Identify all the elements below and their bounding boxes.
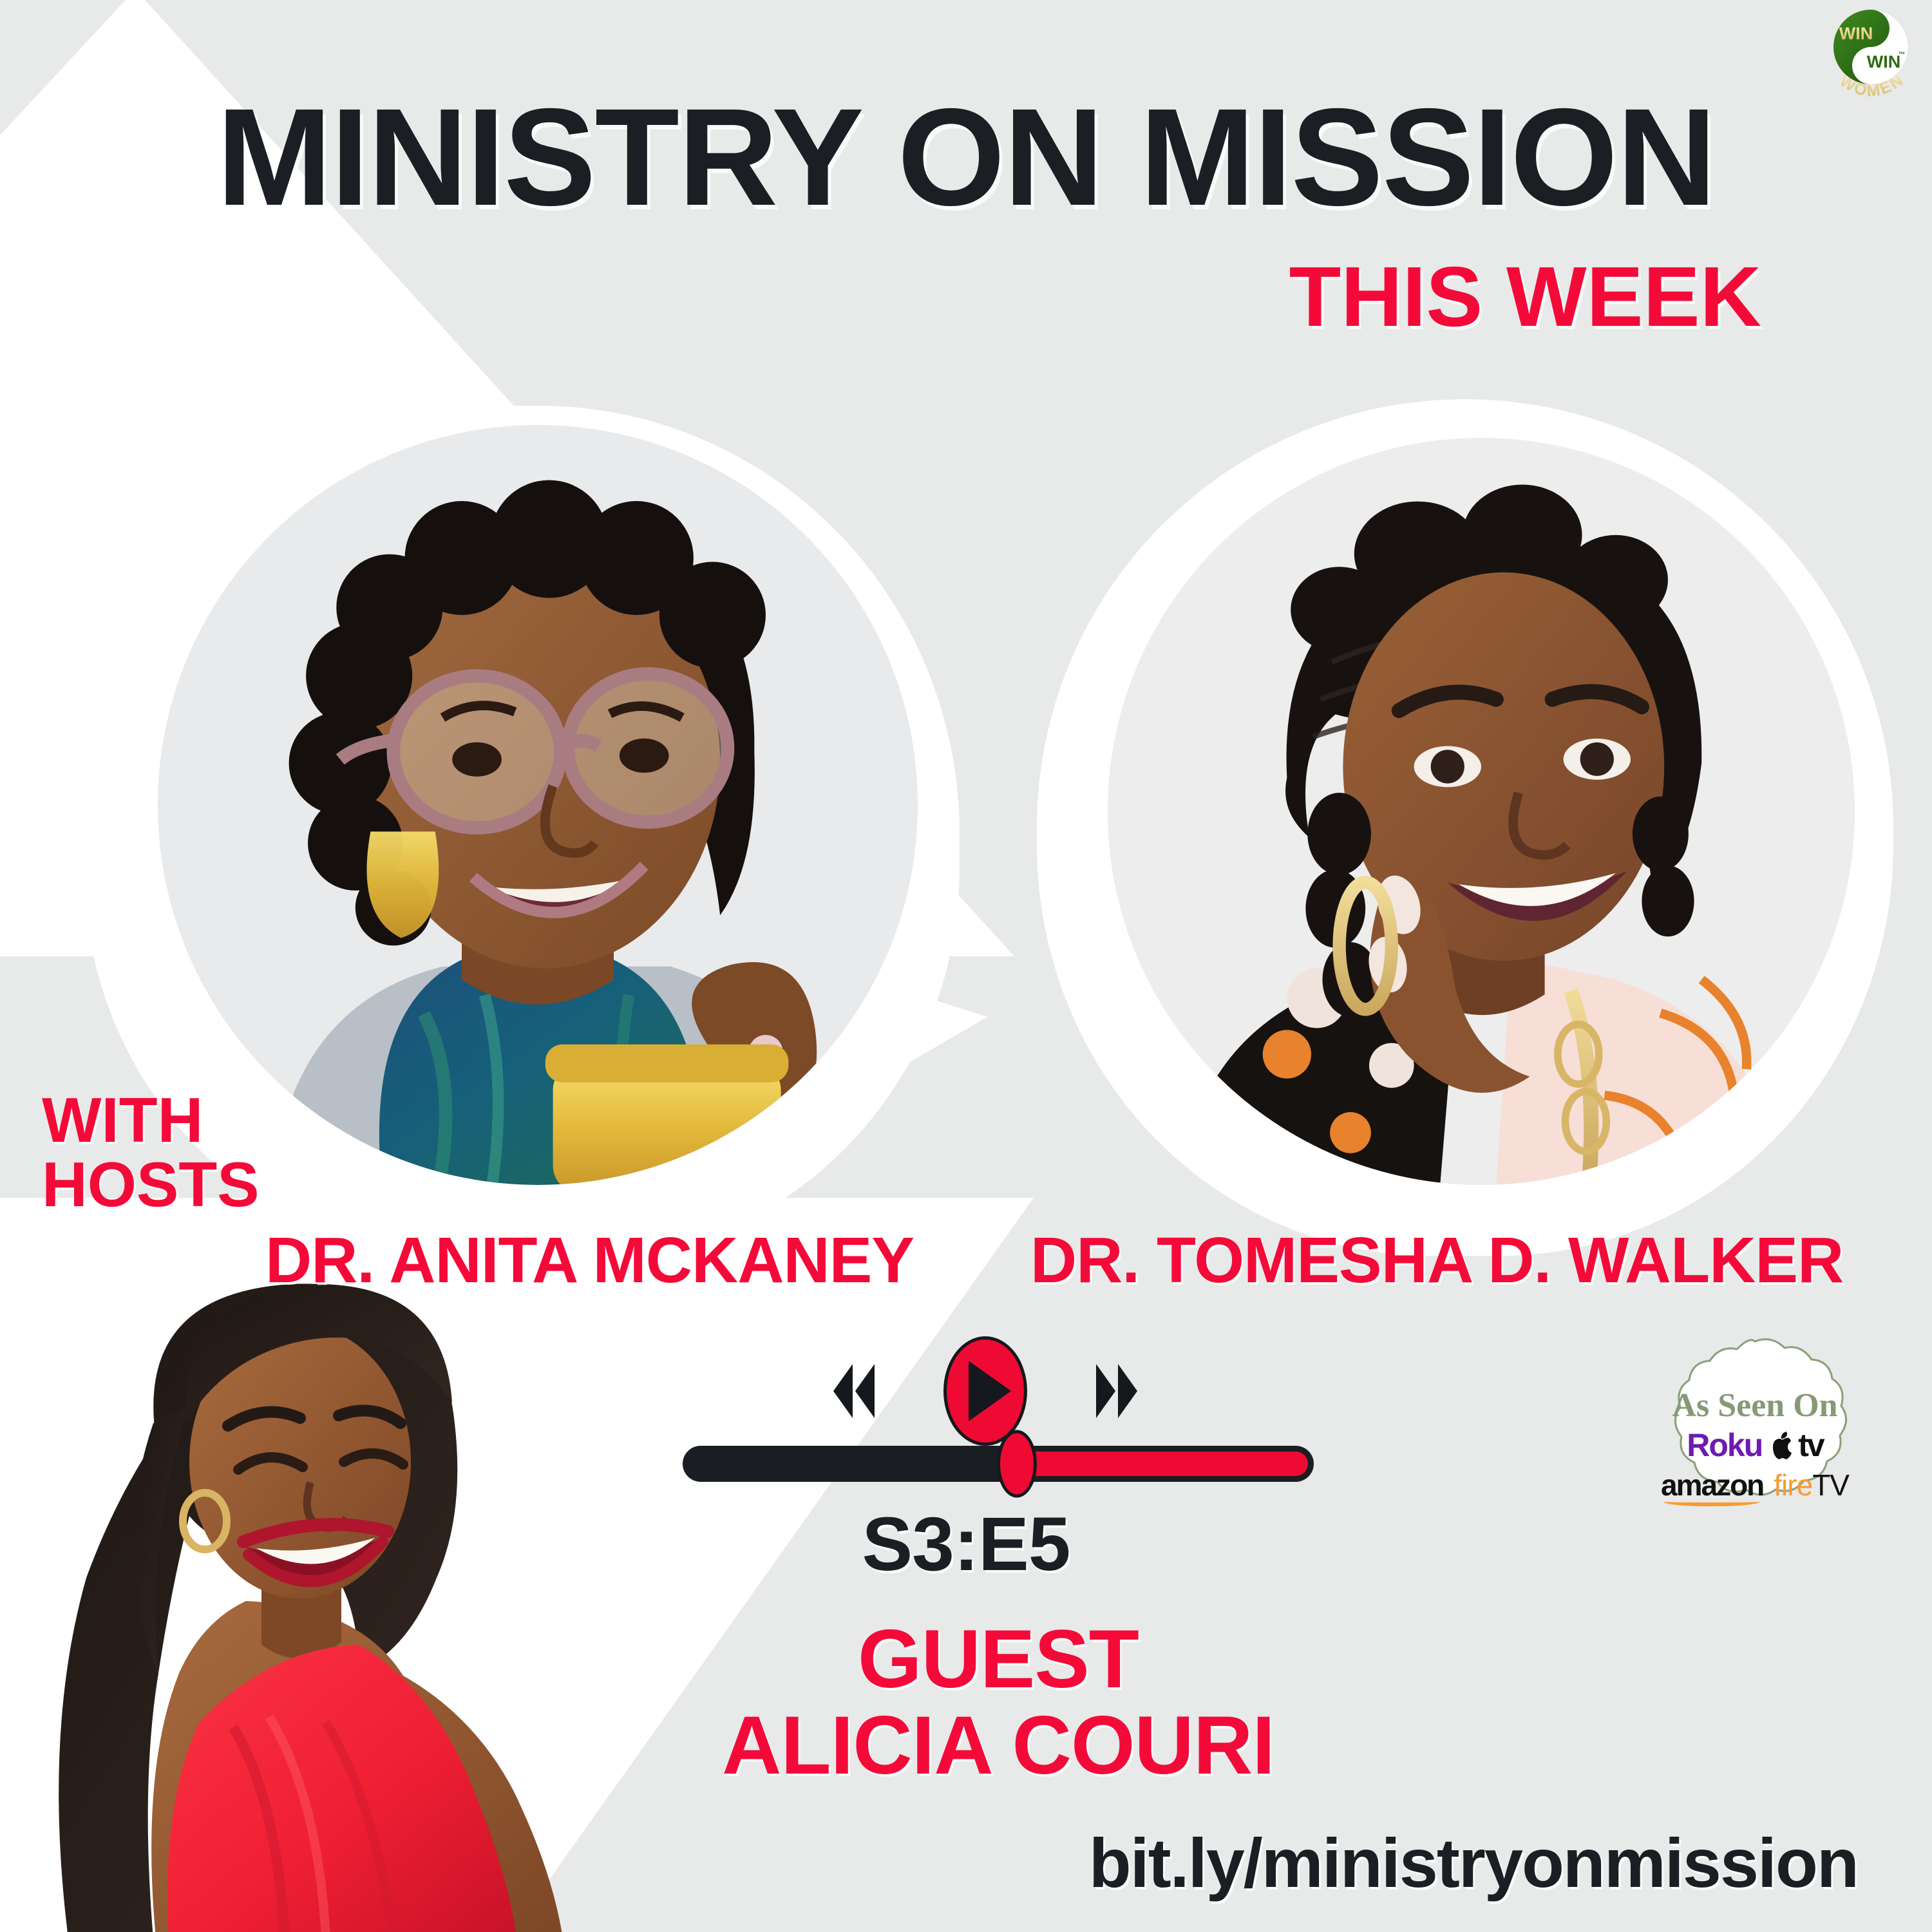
podcast-promo-poster: MINISTRY ON MISSION THIS WEEK WITH HOSTS… (0, 0, 1932, 1932)
play-button[interactable] (943, 1336, 1027, 1446)
with-hosts-line-2: HOSTS (42, 1153, 260, 1217)
rewind-icon[interactable] (831, 1360, 877, 1422)
host-1-name: DR. ANITA MCKANEY (265, 1224, 914, 1298)
apple-icon (1772, 1431, 1797, 1459)
win-win-women-logo-mark: WIN WIN ™ WOMEN (1819, 3, 1922, 113)
tv-label: TV (1812, 1468, 1849, 1502)
host-2-name: DR. TOMESHA D. WALKER (1030, 1224, 1843, 1298)
fast-forward-glyph (1094, 1360, 1140, 1422)
guest-photo (0, 1269, 676, 1932)
with-hosts-label: WITH HOSTS (42, 1088, 260, 1217)
as-seen-on-title: As Seen On (1672, 1389, 1837, 1423)
win-win-women-logo: WIN WIN ™ WOMEN (1819, 3, 1922, 113)
apple-tv-label: tv (1798, 1429, 1823, 1461)
host-1-avatar (158, 425, 918, 1185)
svg-text:WIN: WIN (1867, 52, 1900, 71)
progress-thumb[interactable] (997, 1430, 1037, 1498)
media-player-controls (831, 1333, 1140, 1449)
platform-row-1: Roku tv (1687, 1429, 1823, 1461)
host-1-portrait-illustration (158, 425, 918, 1185)
svg-text:™: ™ (1899, 51, 1906, 59)
guest-label: GUEST (618, 1616, 1378, 1703)
progress-bar[interactable] (683, 1446, 1314, 1482)
page-title: MINISTRY ON MISSION (0, 77, 1932, 237)
platform-row-2: amazon fireTV (1661, 1468, 1849, 1502)
guest-name: ALICIA COURI (618, 1703, 1378, 1789)
play-icon (969, 1361, 1011, 1421)
fire-tv-logo: fireTV (1774, 1468, 1849, 1502)
as-seen-on-badge: As Seen On Roku tv amazon fireTV (1645, 1336, 1864, 1555)
host-2-portrait-illustration (1108, 438, 1855, 1185)
rewind-glyph (831, 1360, 877, 1422)
with-hosts-line-1: WITH (42, 1088, 260, 1153)
fast-forward-icon[interactable] (1094, 1360, 1140, 1422)
apple-tv-logo: tv (1772, 1429, 1823, 1461)
svg-text:WIN: WIN (1839, 24, 1873, 43)
amazon-smile-icon (1663, 1497, 1759, 1506)
guest-credit: GUEST ALICIA COURI (618, 1616, 1378, 1790)
episode-link[interactable]: bit.ly/ministryonmission (1089, 1823, 1858, 1903)
host-2-avatar (1108, 438, 1855, 1185)
page-subtitle: THIS WEEK (1289, 248, 1761, 345)
progress-fill (1017, 1452, 1308, 1476)
roku-logo: Roku (1687, 1429, 1762, 1461)
amazon-logo: amazon (1661, 1470, 1763, 1500)
fire-label: fire (1774, 1468, 1812, 1502)
episode-label: S3:E5 (0, 1501, 1932, 1588)
guest-portrait-illustration (0, 1269, 676, 1932)
